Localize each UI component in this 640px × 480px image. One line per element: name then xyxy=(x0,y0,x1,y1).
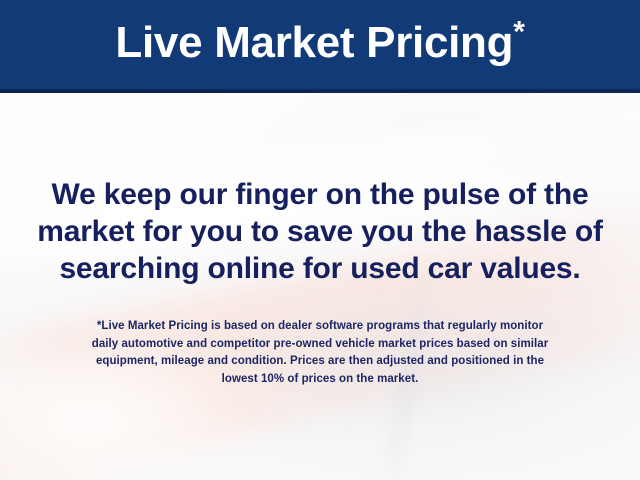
page-title: Live Market Pricing* xyxy=(115,21,524,68)
header-banner-underline xyxy=(0,89,640,93)
disclaimer-line: lowest 10% of prices on the market. xyxy=(20,371,620,389)
disclaimer-line: daily automotive and competitor pre-owne… xyxy=(20,336,620,354)
disclaimer-line: equipment, mileage and condition. Prices… xyxy=(20,353,620,371)
live-market-pricing-graphic: Live Market Pricing* We keep our finger … xyxy=(0,0,640,480)
disclaimer-text: *Live Market Pricing is based on dealer … xyxy=(20,318,620,388)
headline-line: market for you to save you the hassle of xyxy=(20,213,620,250)
page-title-text: Live Market Pricing xyxy=(115,18,513,67)
page-title-asterisk: * xyxy=(513,15,524,48)
header-banner: Live Market Pricing* xyxy=(0,0,640,89)
headline-line: We keep our finger on the pulse of the xyxy=(20,176,620,213)
disclaimer-line: *Live Market Pricing is based on dealer … xyxy=(20,318,620,336)
headline-line: searching online for used car values. xyxy=(20,250,620,287)
headline-paragraph: We keep our finger on the pulse of the m… xyxy=(20,176,620,287)
